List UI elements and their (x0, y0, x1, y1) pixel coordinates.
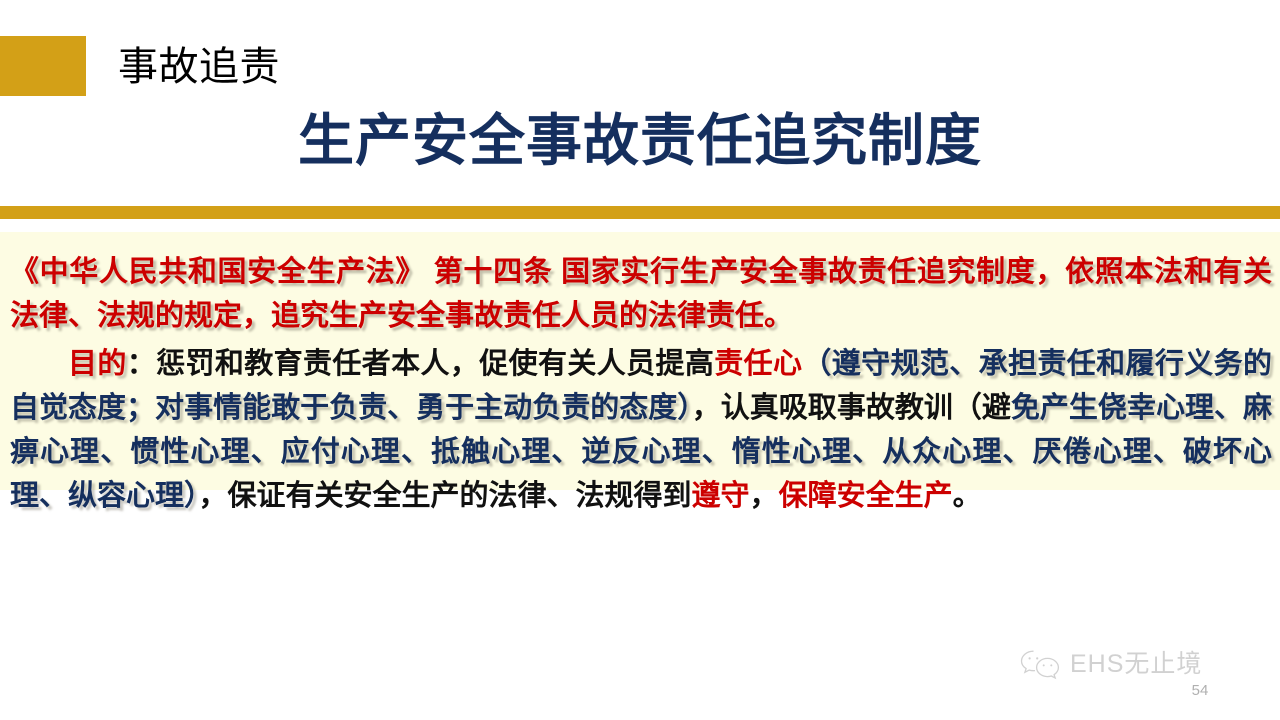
page-title: 生产安全事故责任追究制度 (0, 104, 1280, 178)
page-number: 54 (1180, 682, 1220, 699)
purpose-text-4: ， (750, 480, 779, 512)
content-body: 《中华人民共和国安全生产法》 第十四条 国家实行生产安全事故责任追究制度，依照本… (10, 250, 1272, 518)
watermark-label: EHS无止境 (1070, 650, 1202, 678)
law-quote-paragraph: 《中华人民共和国安全生产法》 第十四条 国家实行生产安全事故责任追究制度，依照本… (10, 250, 1272, 338)
purpose-highlight-comply: 遵守 (692, 480, 750, 512)
slide-root: 事故追责 生产安全事故责任追究制度 《中华人民共和国安全生产法》 第十四条 国家… (0, 0, 1280, 720)
purpose-label: 目的 (68, 348, 127, 380)
purpose-text-1: 惩罚和教育责任者本人，促使有关人员提高 (156, 348, 714, 380)
watermark: EHS无止境 (1018, 648, 1202, 680)
purpose-text-5: 。 (953, 480, 982, 512)
wechat-icon (1018, 648, 1062, 680)
kicker-label: 事故追责 (118, 40, 280, 94)
purpose-colon: ： (127, 348, 156, 380)
purpose-highlight-responsibility: 责任心 (714, 348, 802, 380)
header-divider-bar (0, 206, 1280, 219)
purpose-text-2: ，认真吸取事故教训（避 (692, 392, 1011, 424)
purpose-text-3: ，保证有关安全生产的法律、法规得到 (199, 480, 692, 512)
header-accent-block (0, 36, 86, 96)
purpose-highlight-safety: 保障安全生产 (779, 480, 953, 512)
purpose-paragraph: 目的：惩罚和教育责任者本人，促使有关人员提高责任心（遵守规范、承担责任和履行义务… (10, 342, 1272, 518)
